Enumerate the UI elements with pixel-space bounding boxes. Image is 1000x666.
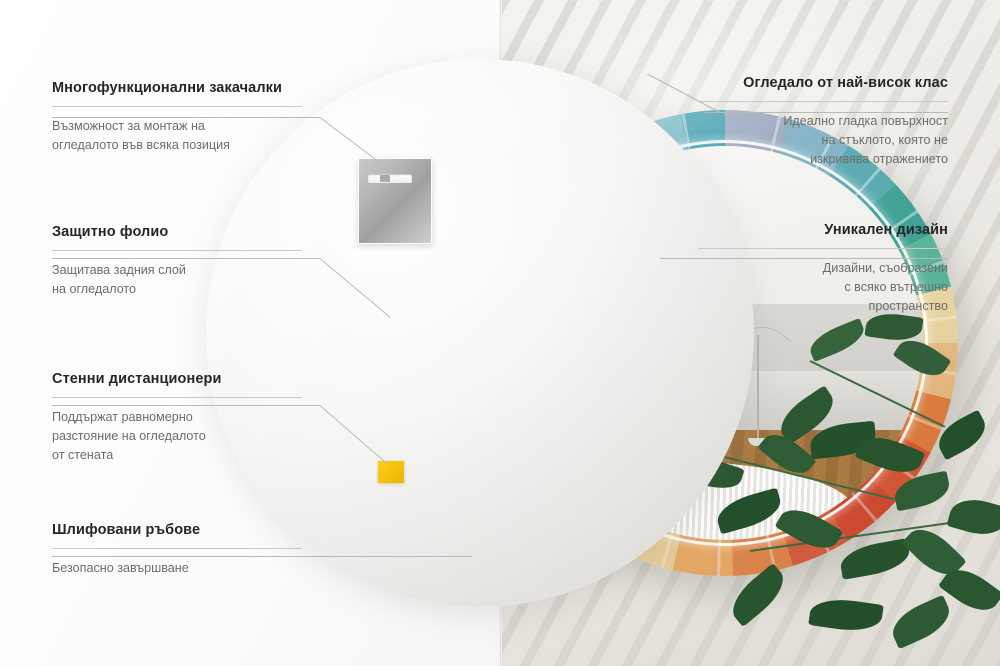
callout-polished-edges: Шлифовани ръбове Безопасно завършване bbox=[52, 522, 302, 578]
callout-rule bbox=[52, 106, 302, 107]
callout-rule bbox=[698, 101, 948, 102]
callout-body: Идеално гладка повърхност на стъклото, к… bbox=[698, 112, 948, 168]
callout-body-line: Идеално гладка повърхност bbox=[698, 112, 948, 131]
callout-title: Многофункционални закачалки bbox=[52, 80, 302, 97]
callout-multifunctional-hangers: Многофункционални закачалки Възможност з… bbox=[52, 80, 302, 155]
callout-body-line: Дизайни, съобразени bbox=[698, 259, 948, 278]
callout-body-line: на огледалото bbox=[52, 280, 302, 299]
leaf bbox=[713, 487, 785, 534]
callout-body-line: пространство bbox=[698, 297, 948, 316]
infographic-canvas: Многофункционални закачалки Възможност з… bbox=[0, 0, 1000, 666]
callout-body-line: Защитава задния слой bbox=[52, 261, 302, 280]
callout-top-class-mirror: Огледало от най-висок клас Идеално гладк… bbox=[698, 75, 948, 168]
callout-body-line: изкривява отражението bbox=[698, 150, 948, 169]
callout-body-line: огледалото във всяка позиция bbox=[52, 136, 302, 155]
callout-body: Поддържат равномерно разстояние на оглед… bbox=[52, 408, 302, 464]
callout-unique-design: Уникален дизайн Дизайни, съобразени с вс… bbox=[698, 222, 948, 315]
callout-wall-spacers: Стенни дистанционери Поддържат равномерн… bbox=[52, 371, 302, 464]
leaf bbox=[932, 410, 992, 461]
callout-body: Дизайни, съобразени с всяко вътрешно про… bbox=[698, 259, 948, 315]
callout-body-line: с всяко вътрешно bbox=[698, 278, 948, 297]
callout-rule bbox=[52, 397, 302, 398]
callout-body: Безопасно завършване bbox=[52, 559, 302, 578]
callout-body-line: разстояние на огледалото bbox=[52, 427, 302, 446]
callout-body-line: Поддържат равномерно bbox=[52, 408, 302, 427]
leaf bbox=[808, 595, 883, 635]
leaf bbox=[891, 471, 952, 512]
leaf bbox=[775, 501, 844, 558]
callout-body-line: Възможност за монтаж на bbox=[52, 117, 302, 136]
callout-protective-foil: Защитно фолио Защитава задния слой на ог… bbox=[52, 224, 302, 299]
callout-body: Защитава задния слой на огледалото bbox=[52, 261, 302, 298]
callout-title: Уникален дизайн bbox=[698, 222, 948, 239]
callout-body-line: на стъклото, която не bbox=[698, 131, 948, 150]
leaf bbox=[838, 538, 912, 580]
yellow-wall-spacer bbox=[378, 461, 404, 483]
leaf bbox=[806, 318, 869, 362]
callout-title: Стенни дистанционери bbox=[52, 371, 302, 388]
callout-title: Защитно фолио bbox=[52, 224, 302, 241]
hanger-plate bbox=[358, 158, 432, 244]
leaf bbox=[946, 493, 1000, 541]
callout-rule bbox=[698, 248, 948, 249]
callout-body: Възможност за монтаж на огледалото във в… bbox=[52, 117, 302, 154]
leaf bbox=[886, 595, 956, 649]
callout-body-line: Безопасно завършване bbox=[52, 559, 302, 578]
callout-title: Огледало от най-висок клас bbox=[698, 75, 948, 92]
leaf bbox=[724, 563, 792, 627]
callout-rule bbox=[52, 548, 302, 549]
hanger-slot bbox=[368, 174, 412, 183]
callout-rule bbox=[52, 250, 302, 251]
callout-title: Шлифовани ръбове bbox=[52, 522, 302, 539]
callout-body-line: от стената bbox=[52, 446, 302, 465]
